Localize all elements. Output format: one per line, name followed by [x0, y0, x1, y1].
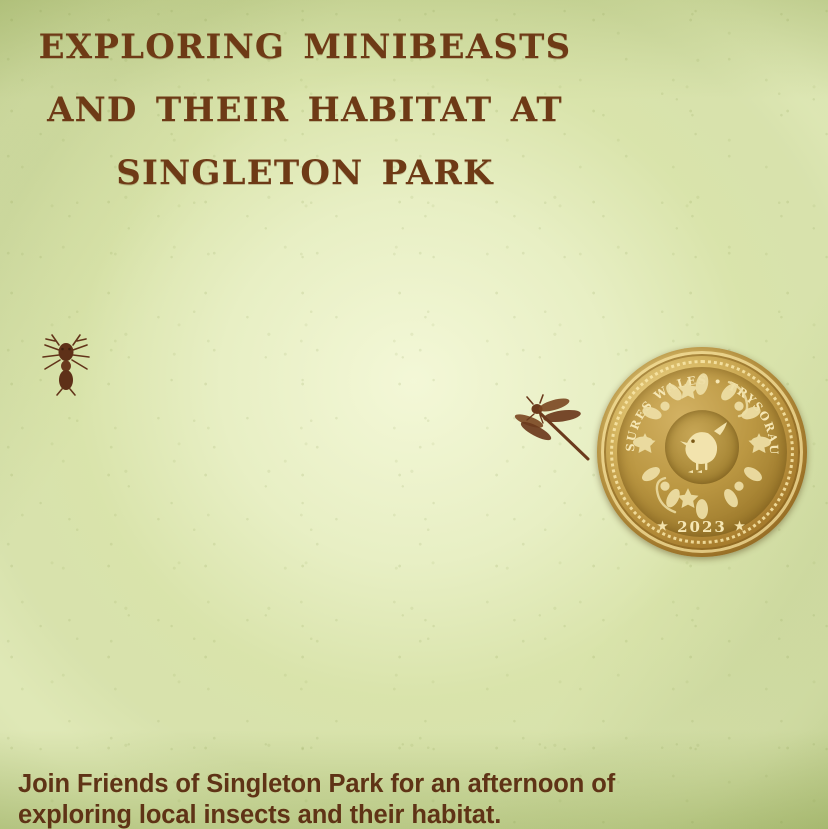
- seal-star-right: ★: [734, 519, 747, 533]
- seal-year-label: 2023: [677, 518, 727, 536]
- title-line-2: and their habitat at: [0, 73, 610, 136]
- dragonfly-icon: [510, 389, 602, 467]
- seal-medallion: [641, 386, 763, 508]
- title-line-3-row: Singleton Park: [0, 136, 610, 199]
- poster-canvas: Exploring Minibeasts and their habitat a…: [0, 0, 828, 829]
- intro-paragraphs: Join Friends of Singleton Park for an af…: [18, 769, 718, 829]
- poster-title: Exploring Minibeasts and their habitat a…: [0, 10, 610, 199]
- seal-star-left: ★: [657, 519, 670, 533]
- intro-paragraph-1: Join Friends of Singleton Park for an af…: [18, 769, 718, 829]
- ant-icon: [32, 329, 100, 397]
- nature-treasures-seal: NATURE'S TREASURES WALES • TRYSORAU NATU…: [597, 347, 807, 557]
- title-line-3: Singleton Park: [116, 136, 494, 199]
- title-line-1: Exploring Minibeasts: [0, 10, 610, 73]
- wren-bird-icon: [672, 417, 732, 477]
- seal-year: ★ 2023 ★: [597, 518, 807, 536]
